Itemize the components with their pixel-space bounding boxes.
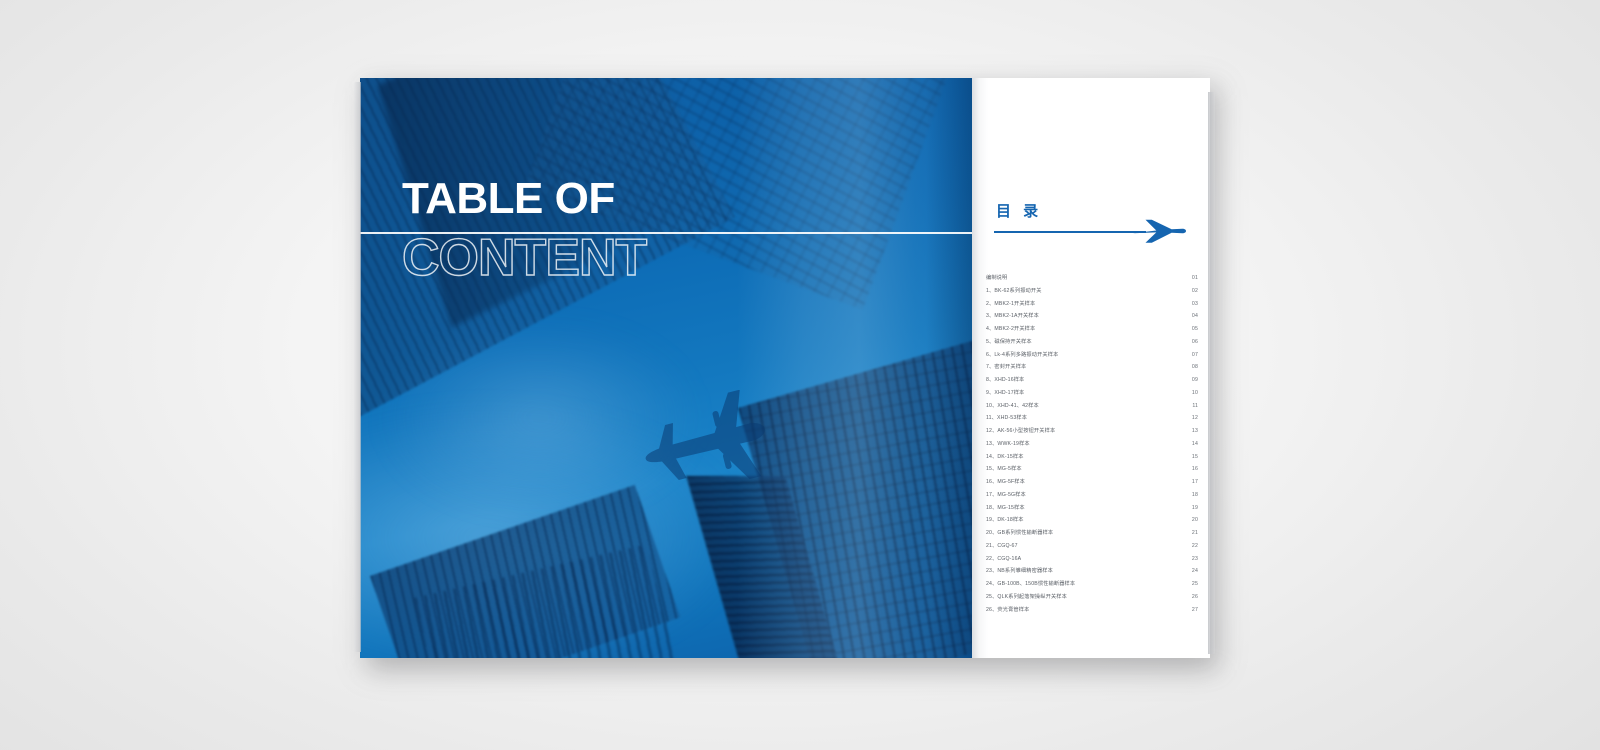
contents-item-label: 18、MG-15样本 — [986, 502, 1025, 515]
contents-list-item[interactable]: 1、BK-62系列振动开关02 — [986, 285, 1198, 298]
contents-header: 目 录 — [994, 200, 1184, 233]
contents-item-label: 14、DK-15样本 — [986, 451, 1024, 464]
contents-list: 编制说明011、BK-62系列振动开关022、MBK2-1开关样本033、MBK… — [986, 272, 1198, 616]
contents-item-label: 12、AK-56小型按钮开关样本 — [986, 425, 1055, 438]
contents-list-item[interactable]: 4、MBK2-2开关样本05 — [986, 323, 1198, 336]
contents-item-label: 9、XHD-17样本 — [986, 387, 1024, 400]
contents-item-page-number: 17 — [1192, 476, 1198, 489]
contents-item-label: 21、CGQ-67 — [986, 540, 1018, 553]
contents-item-page-number: 09 — [1192, 374, 1198, 387]
contents-item-page-number: 25 — [1192, 578, 1198, 591]
contents-item-page-number: 12 — [1192, 412, 1198, 425]
contents-item-page-number: 18 — [1192, 489, 1198, 502]
contents-item-label: 10、XHD-41、42样本 — [986, 400, 1039, 413]
contents-item-label: 7、密封开关样本 — [986, 361, 1026, 374]
contents-item-label: 3、MBK2-1A开关样本 — [986, 310, 1039, 323]
contents-item-page-number: 05 — [1192, 323, 1198, 336]
contents-item-page-number: 11 — [1192, 400, 1198, 413]
contents-list-item[interactable]: 5、磁保持开关样本06 — [986, 336, 1198, 349]
cover-title-block: TABLE OF CONTENT — [402, 176, 942, 284]
airplane-icon — [638, 390, 774, 498]
contents-list-item[interactable]: 17、MG-5G样本18 — [986, 489, 1198, 502]
contents-item-page-number: 06 — [1192, 336, 1198, 349]
contents-item-label: 1、BK-62系列振动开关 — [986, 285, 1042, 298]
contents-item-label: 2、MBK2-1开关样本 — [986, 298, 1035, 311]
contents-list-item[interactable]: 18、MG-15样本19 — [986, 502, 1198, 515]
contents-item-label: 6、Lk-4系列多路振动开关样本 — [986, 349, 1058, 362]
contents-item-page-number: 07 — [1192, 349, 1198, 362]
contents-list-item[interactable]: 21、CGQ-6722 — [986, 540, 1198, 553]
contents-list-item[interactable]: 11、XHD-53样本12 — [986, 412, 1198, 425]
contents-list-item[interactable]: 24、GB-100B、150B惯性输断器样本25 — [986, 578, 1198, 591]
contents-item-page-number: 27 — [1192, 604, 1198, 617]
contents-item-label: 13、WWK-19样本 — [986, 438, 1030, 451]
spread-left-page-edge — [354, 82, 361, 652]
contents-item-page-number: 13 — [1192, 425, 1198, 438]
contents-item-label: 11、XHD-53样本 — [986, 412, 1027, 425]
cover-title-line-2: CONTENT — [402, 232, 942, 284]
contents-item-page-number: 24 — [1192, 565, 1198, 578]
contents-item-page-number: 01 — [1192, 272, 1198, 285]
contents-item-page-number: 02 — [1192, 285, 1198, 298]
contents-item-label: 24、GB-100B、150B惯性输断器样本 — [986, 578, 1075, 591]
contents-list-item[interactable]: 19、DK-18样本20 — [986, 514, 1198, 527]
contents-item-label: 5、磁保持开关样本 — [986, 336, 1032, 349]
contents-item-page-number: 10 — [1192, 387, 1198, 400]
cover-title-divider — [360, 232, 972, 234]
contents-item-page-number: 19 — [1192, 502, 1198, 515]
contents-list-item[interactable]: 12、AK-56小型按钮开关样本13 — [986, 425, 1198, 438]
contents-list-item[interactable]: 22、CGQ-16A23 — [986, 553, 1198, 566]
contents-item-label: 16、MG-5F样本 — [986, 476, 1025, 489]
contents-item-label: 20、GB系列惯性输断器样本 — [986, 527, 1053, 540]
contents-item-page-number: 03 — [1192, 298, 1198, 311]
page-background: TABLE OF CONTENT 目 录 — [0, 0, 1600, 750]
contents-item-label: 22、CGQ-16A — [986, 553, 1021, 566]
contents-list-item[interactable]: 编制说明01 — [986, 272, 1198, 285]
contents-list-item[interactable]: 25、QLK系列起落架操纵开关样本26 — [986, 591, 1198, 604]
contents-list-item[interactable]: 23、NB系列雏细精密器样本24 — [986, 565, 1198, 578]
contents-item-page-number: 08 — [1192, 361, 1198, 374]
contents-list-item[interactable]: 7、密封开关样本08 — [986, 361, 1198, 374]
contents-list-item[interactable]: 14、DK-15样本15 — [986, 451, 1198, 464]
contents-item-label: 26、荧光膏管样本 — [986, 604, 1029, 617]
spread-right-page-edge — [1208, 92, 1215, 654]
contents-list-item[interactable]: 10、XHD-41、42样本11 — [986, 400, 1198, 413]
contents-item-label: 15、MG-5样本 — [986, 463, 1022, 476]
brochure-spread: TABLE OF CONTENT 目 录 — [360, 78, 1210, 658]
contents-item-label: 19、DK-18样本 — [986, 514, 1024, 527]
contents-item-page-number: 04 — [1192, 310, 1198, 323]
contents-item-page-number: 16 — [1192, 463, 1198, 476]
contents-list-item[interactable]: 15、MG-5样本16 — [986, 463, 1198, 476]
contents-list-item[interactable]: 2、MBK2-1开关样本03 — [986, 298, 1198, 311]
contents-item-label: 23、NB系列雏细精密器样本 — [986, 565, 1053, 578]
contents-item-label: 25、QLK系列起落架操纵开关样本 — [986, 591, 1067, 604]
contents-list-item[interactable]: 16、MG-5F样本17 — [986, 476, 1198, 489]
contents-item-page-number: 26 — [1192, 591, 1198, 604]
airplane-icon — [1132, 216, 1186, 246]
contents-item-page-number: 21 — [1192, 527, 1198, 540]
contents-item-page-number: 15 — [1192, 451, 1198, 464]
contents-heading-rule — [994, 231, 1146, 233]
contents-list-item[interactable]: 6、Lk-4系列多路振动开关样本07 — [986, 349, 1198, 362]
contents-item-page-number: 14 — [1192, 438, 1198, 451]
contents-list-item[interactable]: 13、WWK-19样本14 — [986, 438, 1198, 451]
contents-item-page-number: 22 — [1192, 540, 1198, 553]
contents-item-label: 8、XHD-16样本 — [986, 374, 1024, 387]
contents-list-item[interactable]: 20、GB系列惯性输断器样本21 — [986, 527, 1198, 540]
cover-title-line-1: TABLE OF — [402, 176, 942, 222]
contents-page: 目 录 编制说明011、BK-62系列振动开关022、MBK2-1开关样本033… — [972, 78, 1210, 658]
contents-item-label: 4、MBK2-2开关样本 — [986, 323, 1035, 336]
contents-item-label: 编制说明 — [986, 272, 1007, 285]
contents-list-item[interactable]: 9、XHD-17样本10 — [986, 387, 1198, 400]
contents-list-item[interactable]: 8、XHD-16样本09 — [986, 374, 1198, 387]
cover-page: TABLE OF CONTENT — [360, 78, 972, 658]
contents-item-page-number: 20 — [1192, 514, 1198, 527]
contents-item-page-number: 23 — [1192, 553, 1198, 566]
contents-list-item[interactable]: 3、MBK2-1A开关样本04 — [986, 310, 1198, 323]
contents-item-label: 17、MG-5G样本 — [986, 489, 1026, 502]
contents-list-item[interactable]: 26、荧光膏管样本27 — [986, 604, 1198, 617]
